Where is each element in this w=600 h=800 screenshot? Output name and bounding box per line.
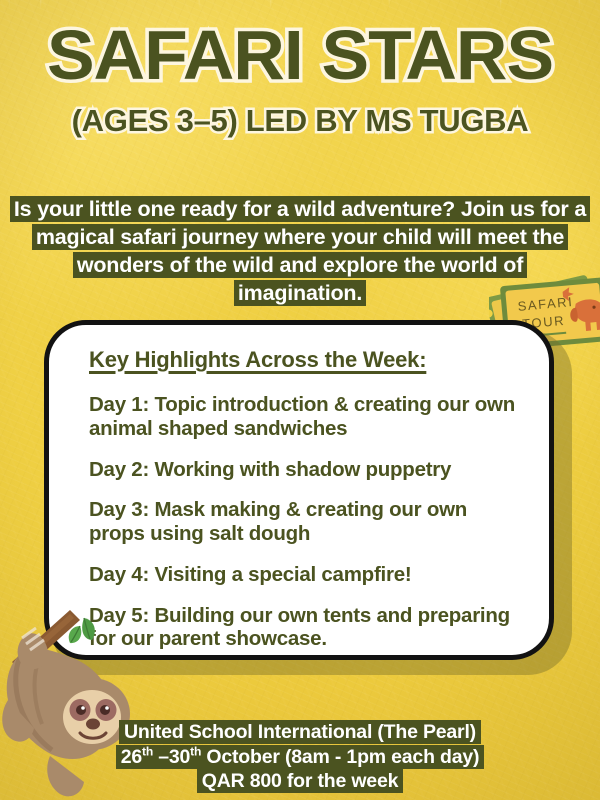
card-title: Key Highlights Across the Week: (89, 347, 519, 373)
date-to: 30 (169, 746, 190, 768)
footer-price: QAR 800 for the week (198, 770, 403, 792)
intro-line-2: magical safari journey where your child … (33, 225, 567, 249)
date-from-suffix: th (142, 744, 153, 758)
page-subtitle: (AGES 3–5) LED BY MS TUGBA (0, 105, 600, 137)
poster-canvas: SAFARI STARS (AGES 3–5) LED BY MS TUGBA … (0, 0, 600, 800)
day-item-1: Day 1: Topic introduction & creating our… (89, 393, 519, 441)
date-from: 26 (121, 746, 142, 768)
page-title: SAFARI STARS (0, 22, 600, 89)
footer-venue: United School International (The Pearl) (120, 721, 480, 743)
intro-line-4: imagination. (235, 281, 365, 305)
intro-line-1: Is your little one ready for a wild adve… (11, 197, 589, 221)
date-rest: October (8am - 1pm each day) (201, 746, 479, 768)
intro-line-3: wonders of the wild and explore the worl… (74, 253, 526, 277)
footer-dates: 26th –30th October (8am - 1pm each day) (117, 746, 484, 768)
day-item-4: Day 4: Visiting a special campfire! (89, 563, 519, 587)
headline-block: SAFARI STARS (AGES 3–5) LED BY MS TUGBA (0, 22, 600, 137)
day-item-3: Day 3: Mask making & creating our own pr… (89, 498, 519, 546)
footer-details: United School International (The Pearl) … (0, 720, 600, 794)
day-item-2: Day 2: Working with shadow puppetry (89, 458, 519, 482)
date-to-suffix: th (190, 744, 201, 758)
